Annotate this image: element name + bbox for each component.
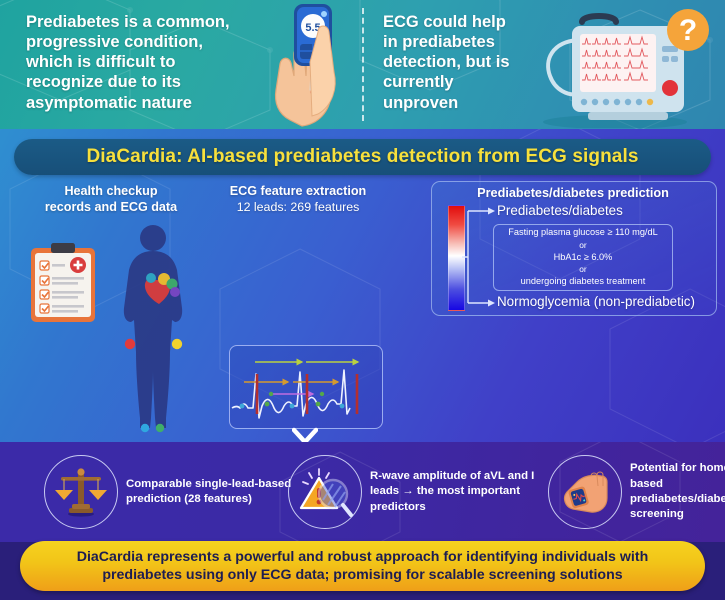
header-left-text: Prediabetes is a common, progressive con… [26, 12, 231, 113]
middle-column-subtitle: 12 leads: 269 features [216, 200, 380, 216]
smartwatch-wrist-icon [548, 455, 622, 529]
infographic-page: Prediabetes is a common, progressive con… [0, 0, 725, 600]
header-band: Prediabetes is a common, progressive con… [0, 0, 725, 129]
question-mark-label: ? [679, 14, 697, 47]
left-column-subtitle: records and ECG data [36, 200, 186, 216]
prediction-brace-connector [462, 205, 496, 309]
main-title: DiaCardia: AI-based prediabetes detectio… [86, 146, 638, 168]
header-right-text: ECG could help in prediabetes detection,… [383, 12, 523, 113]
chevron-down-icon [292, 427, 318, 442]
finding-item-2: R-wave amplitude of aVL and I leads → th… [288, 450, 558, 534]
method-band: DiaCardia: AI-based prediabetes detectio… [0, 129, 725, 442]
conclusion-banner: DiaCardia represents a powerful and robu… [20, 541, 705, 591]
middle-column-title: ECG feature extraction [216, 184, 380, 200]
balance-scale-icon [44, 455, 118, 529]
ecg-feature-diagram [229, 345, 383, 429]
finding-item-3: Potential for home-based prediabetes/dia… [548, 450, 725, 534]
conclusion-text: DiaCardia represents a powerful and robu… [42, 548, 683, 585]
criteria-line-5: undergoing diabetes treatment [521, 276, 646, 288]
left-column-title: Health checkup [36, 184, 186, 200]
criteria-line-1: Fasting plasma glucose ≥ 110 mg/dL [508, 227, 657, 239]
findings-band: Comparable single-lead-based prediction … [0, 442, 725, 542]
criteria-box: Fasting plasma glucose ≥ 110 mg/dL or Hb… [493, 224, 673, 291]
body-silhouette-with-leads [96, 222, 211, 435]
prediction-panel-title: Prediabetes/diabetes prediction [431, 186, 715, 200]
warning-magnifier-icon [288, 455, 362, 529]
criteria-line-3: HbA1c ≥ 6.0% [554, 252, 613, 264]
finding-text-2: R-wave amplitude of aVL and I leads → th… [370, 469, 558, 515]
prediabetes-label: Prediabetes/diabetes [497, 203, 623, 218]
header-divider [362, 8, 364, 121]
criteria-line-2: or [579, 240, 586, 251]
clipboard-icon [30, 242, 96, 324]
left-column-heading: Health checkup records and ECG data [36, 184, 186, 215]
glucose-meter-illustration: 5.5 [232, 2, 360, 129]
normoglycemia-label: Normoglycemia (non-prediabetic) [497, 294, 695, 309]
ecg-monitor-illustration: ? [520, 6, 710, 128]
finding-text-3: Potential for home-based prediabetes/dia… [630, 461, 725, 523]
criteria-line-4: or [579, 264, 586, 275]
main-title-bar: DiaCardia: AI-based prediabetes detectio… [14, 139, 711, 175]
middle-column-heading: ECG feature extraction 12 leads: 269 fea… [216, 184, 380, 215]
